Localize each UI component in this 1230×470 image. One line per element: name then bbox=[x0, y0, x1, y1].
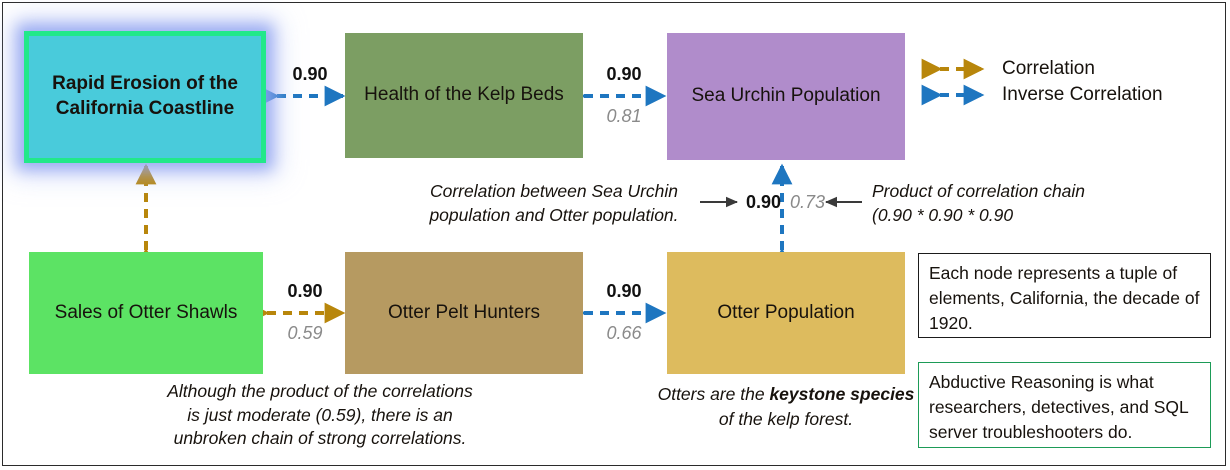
edge-label-otters-urchin: 0.90 bbox=[737, 192, 781, 213]
node-urchin-label: Sea Urchin Population bbox=[691, 84, 880, 109]
node-otters-label: Otter Population bbox=[717, 301, 854, 326]
note-abductive-reasoning: Abductive Reasoning is what researchers,… bbox=[918, 362, 1211, 448]
legend-label-inverse-correlation: Inverse Correlation bbox=[1002, 84, 1163, 106]
diagram-canvas: kelp (inverse, blue, horizontal) --> urc… bbox=[0, 0, 1230, 470]
caption-otter-part2: of the kelp forest. bbox=[719, 409, 853, 429]
node-otters[interactable]: Otter Population bbox=[667, 252, 905, 374]
annotation-sea-urchin-otter: Correlation between Sea Urchin populatio… bbox=[408, 180, 700, 227]
edge-sub-otters-urchin: 0.73 bbox=[790, 192, 834, 213]
note-abductive-reasoning-text: Abductive Reasoning is what researchers,… bbox=[929, 372, 1188, 442]
annotation-product-chain: Product of correlation chain (0.90 * 0.9… bbox=[872, 180, 1162, 227]
legend-row-inverse: Inverse Correlation bbox=[930, 82, 1163, 108]
caption-bottom-left-line3: unbroken chain of strong correlations. bbox=[120, 427, 520, 451]
note-node-meaning: Each node represents a tuple of elements… bbox=[918, 253, 1211, 338]
node-urchin[interactable]: Sea Urchin Population bbox=[667, 33, 905, 160]
node-hunters[interactable]: Otter Pelt Hunters bbox=[345, 252, 583, 374]
node-shawls[interactable]: Sales of Otter Shawls bbox=[29, 252, 263, 374]
node-erosion[interactable]: Rapid Erosion of the California Coastlin… bbox=[24, 31, 266, 163]
node-shawls-label: Sales of Otter Shawls bbox=[55, 301, 238, 326]
caption-otter-bold: keystone species bbox=[769, 384, 914, 404]
inverse-correlation-arrow-icon bbox=[930, 84, 992, 106]
caption-bottom-left: Although the product of the correlations… bbox=[120, 380, 520, 451]
edge-label-hunters-otters: 0.90 bbox=[583, 281, 665, 302]
caption-bottom-left-line2: is just moderate (0.59), there is an bbox=[120, 404, 520, 428]
node-hunters-label: Otter Pelt Hunters bbox=[388, 301, 540, 326]
edge-sub-kelp-urchin: 0.81 bbox=[583, 106, 665, 127]
node-erosion-label: Rapid Erosion of the California Coastlin… bbox=[39, 72, 251, 121]
legend-row-correlation: Correlation bbox=[930, 56, 1163, 82]
node-kelp[interactable]: Health of the Kelp Beds bbox=[345, 33, 583, 158]
edge-sub-shawls-hunters: 0.59 bbox=[264, 323, 346, 344]
annotation-product-chain-line2: (0.90 * 0.90 * 0.90 bbox=[872, 204, 1162, 228]
edge-label-kelp-urchin: 0.90 bbox=[583, 64, 665, 85]
edge-sub-hunters-otters: 0.66 bbox=[583, 323, 665, 344]
caption-otter-keystone: Otters are the keystone species of the k… bbox=[650, 382, 922, 433]
annotation-product-chain-line1: Product of correlation chain bbox=[872, 180, 1162, 204]
edge-label-erosion-kelp: 0.90 bbox=[269, 64, 351, 85]
edge-label-shawls-hunters: 0.90 bbox=[264, 281, 346, 302]
correlation-arrow-icon bbox=[930, 58, 992, 80]
note-node-meaning-text: Each node represents a tuple of elements… bbox=[929, 263, 1199, 333]
legend-label-correlation: Correlation bbox=[1002, 58, 1095, 80]
caption-otter-part1: Otters are the bbox=[658, 384, 770, 404]
caption-bottom-left-line1: Although the product of the correlations bbox=[120, 380, 520, 404]
node-kelp-label: Health of the Kelp Beds bbox=[364, 83, 564, 108]
legend: Correlation Inverse Correlation bbox=[930, 56, 1163, 108]
